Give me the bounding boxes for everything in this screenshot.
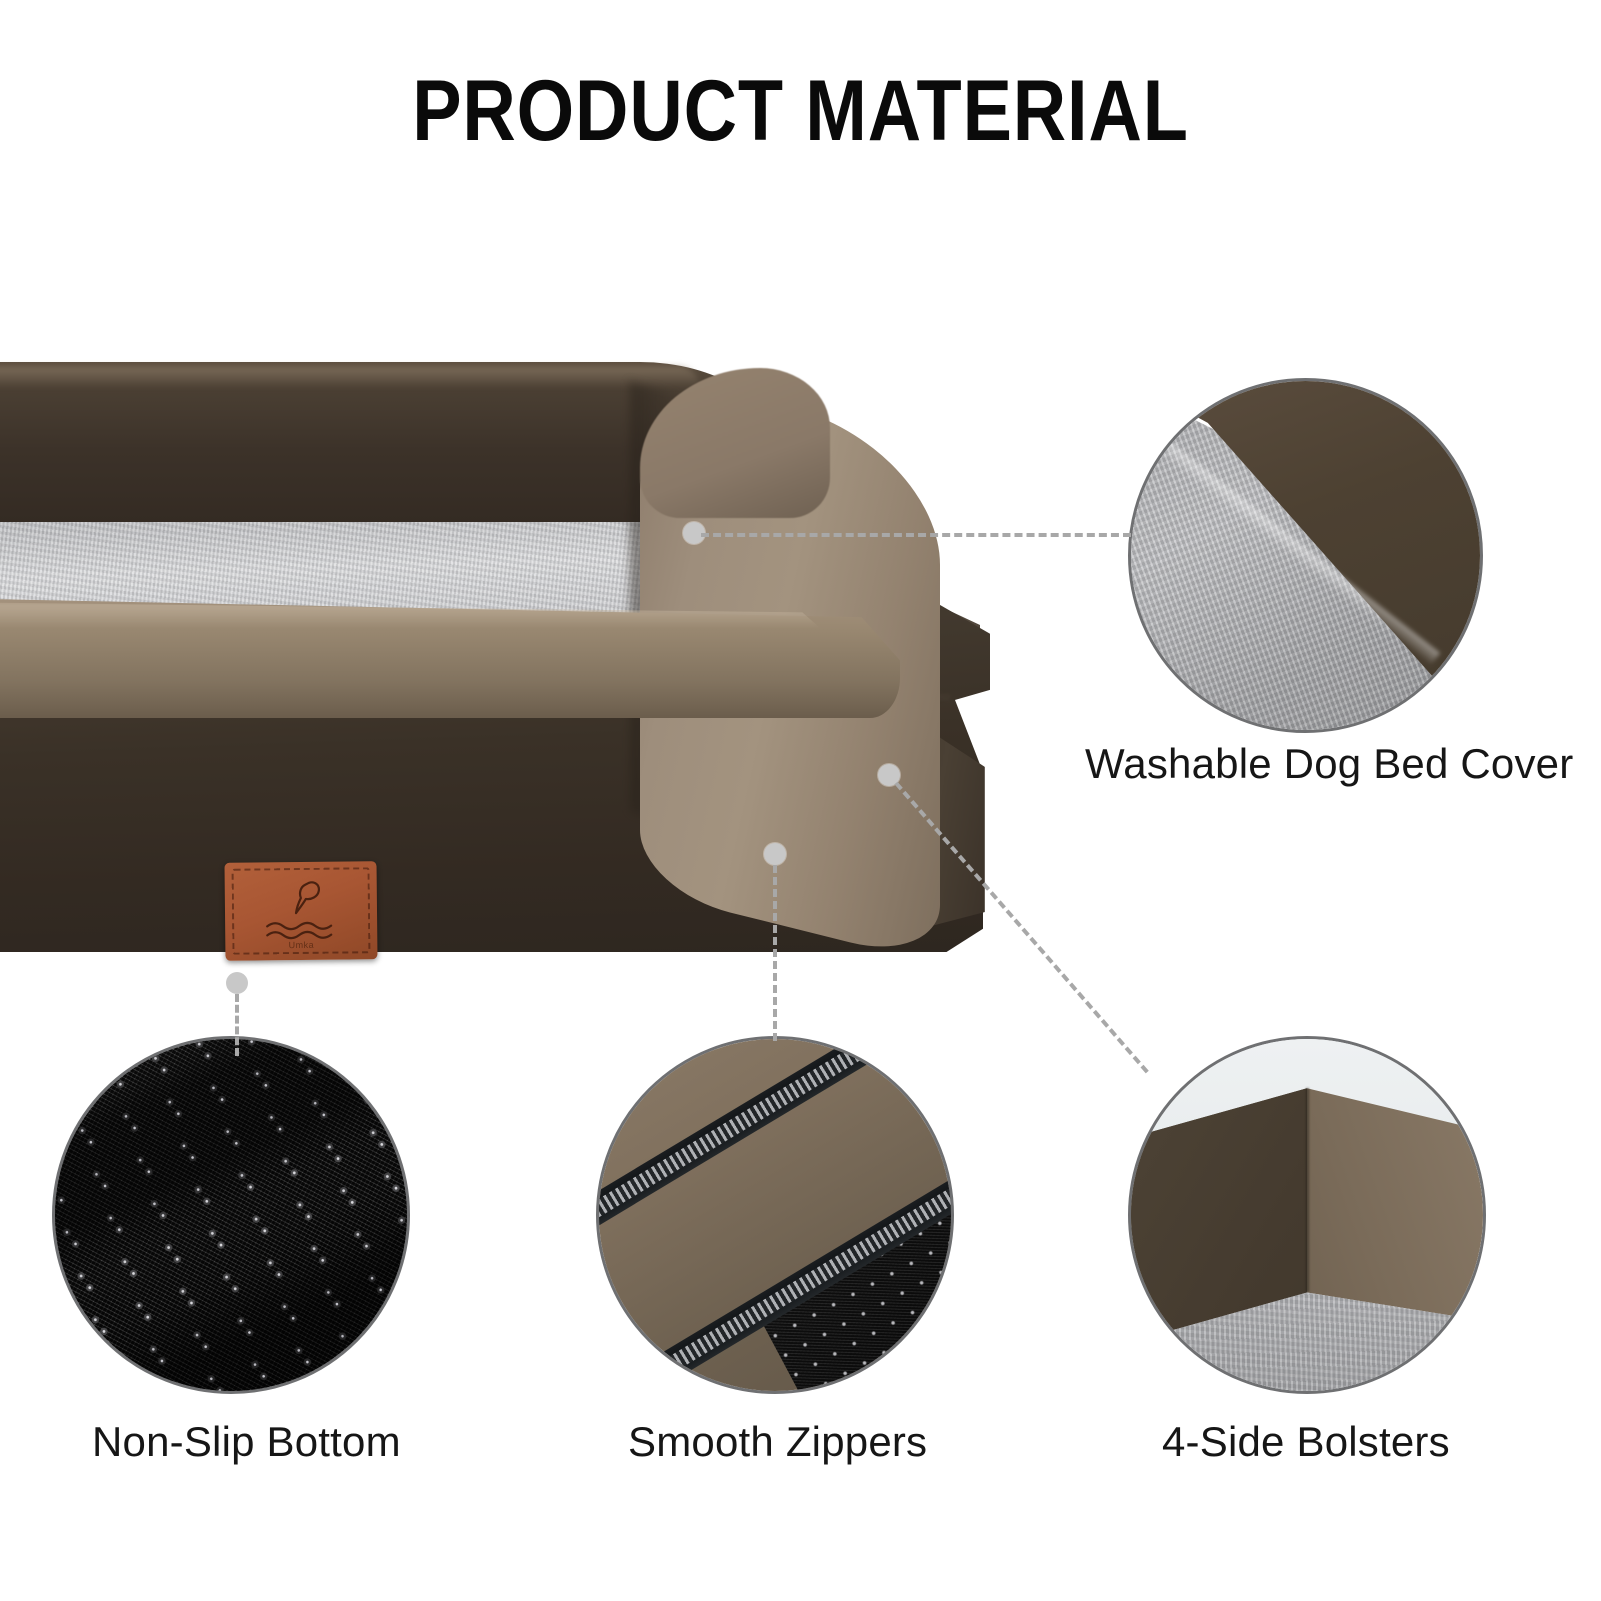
callout-dot-smooth-zippers — [764, 843, 786, 865]
callout-line-washable-cover — [701, 533, 1131, 537]
bolsters-detail-photo — [1131, 1039, 1483, 1391]
smooth-zippers-detail-photo — [599, 1039, 951, 1391]
brand-leather-tag: Umka — [224, 861, 377, 961]
non-slip-fabric-folds — [52, 1036, 410, 1394]
callout-line-smooth-zippers — [773, 865, 777, 1041]
callout-line-non-slip-bottom — [235, 994, 239, 1056]
dog-head-icon — [279, 878, 323, 916]
washable-cover-detail-photo — [1131, 381, 1480, 730]
callout-circle-smooth-zippers — [596, 1036, 954, 1394]
callout-label-smooth-zippers: Smooth Zippers — [628, 1418, 927, 1466]
callout-label-non-slip-bottom: Non-Slip Bottom — [92, 1418, 401, 1466]
product-hero-image — [0, 362, 1010, 987]
page-title: PRODUCT MATERIAL — [112, 62, 1489, 161]
callout-dot-non-slip-bottom — [226, 972, 248, 994]
back-bolster-highlight — [0, 366, 700, 388]
callout-label-washable-cover: Washable Dog Bed Cover — [1085, 740, 1573, 788]
callout-label-4-side-bolsters: 4-Side Bolsters — [1162, 1418, 1450, 1466]
callout-circle-non-slip-bottom — [52, 1036, 410, 1394]
non-slip-detail-photo — [55, 1039, 407, 1391]
callout-circle-4-side-bolsters — [1128, 1036, 1486, 1394]
bolster-corner-seam — [1306, 1088, 1309, 1292]
tag-brand-text: Umka — [225, 939, 377, 951]
callout-circle-washable-cover — [1128, 378, 1483, 733]
tag-logo-group — [225, 877, 378, 944]
